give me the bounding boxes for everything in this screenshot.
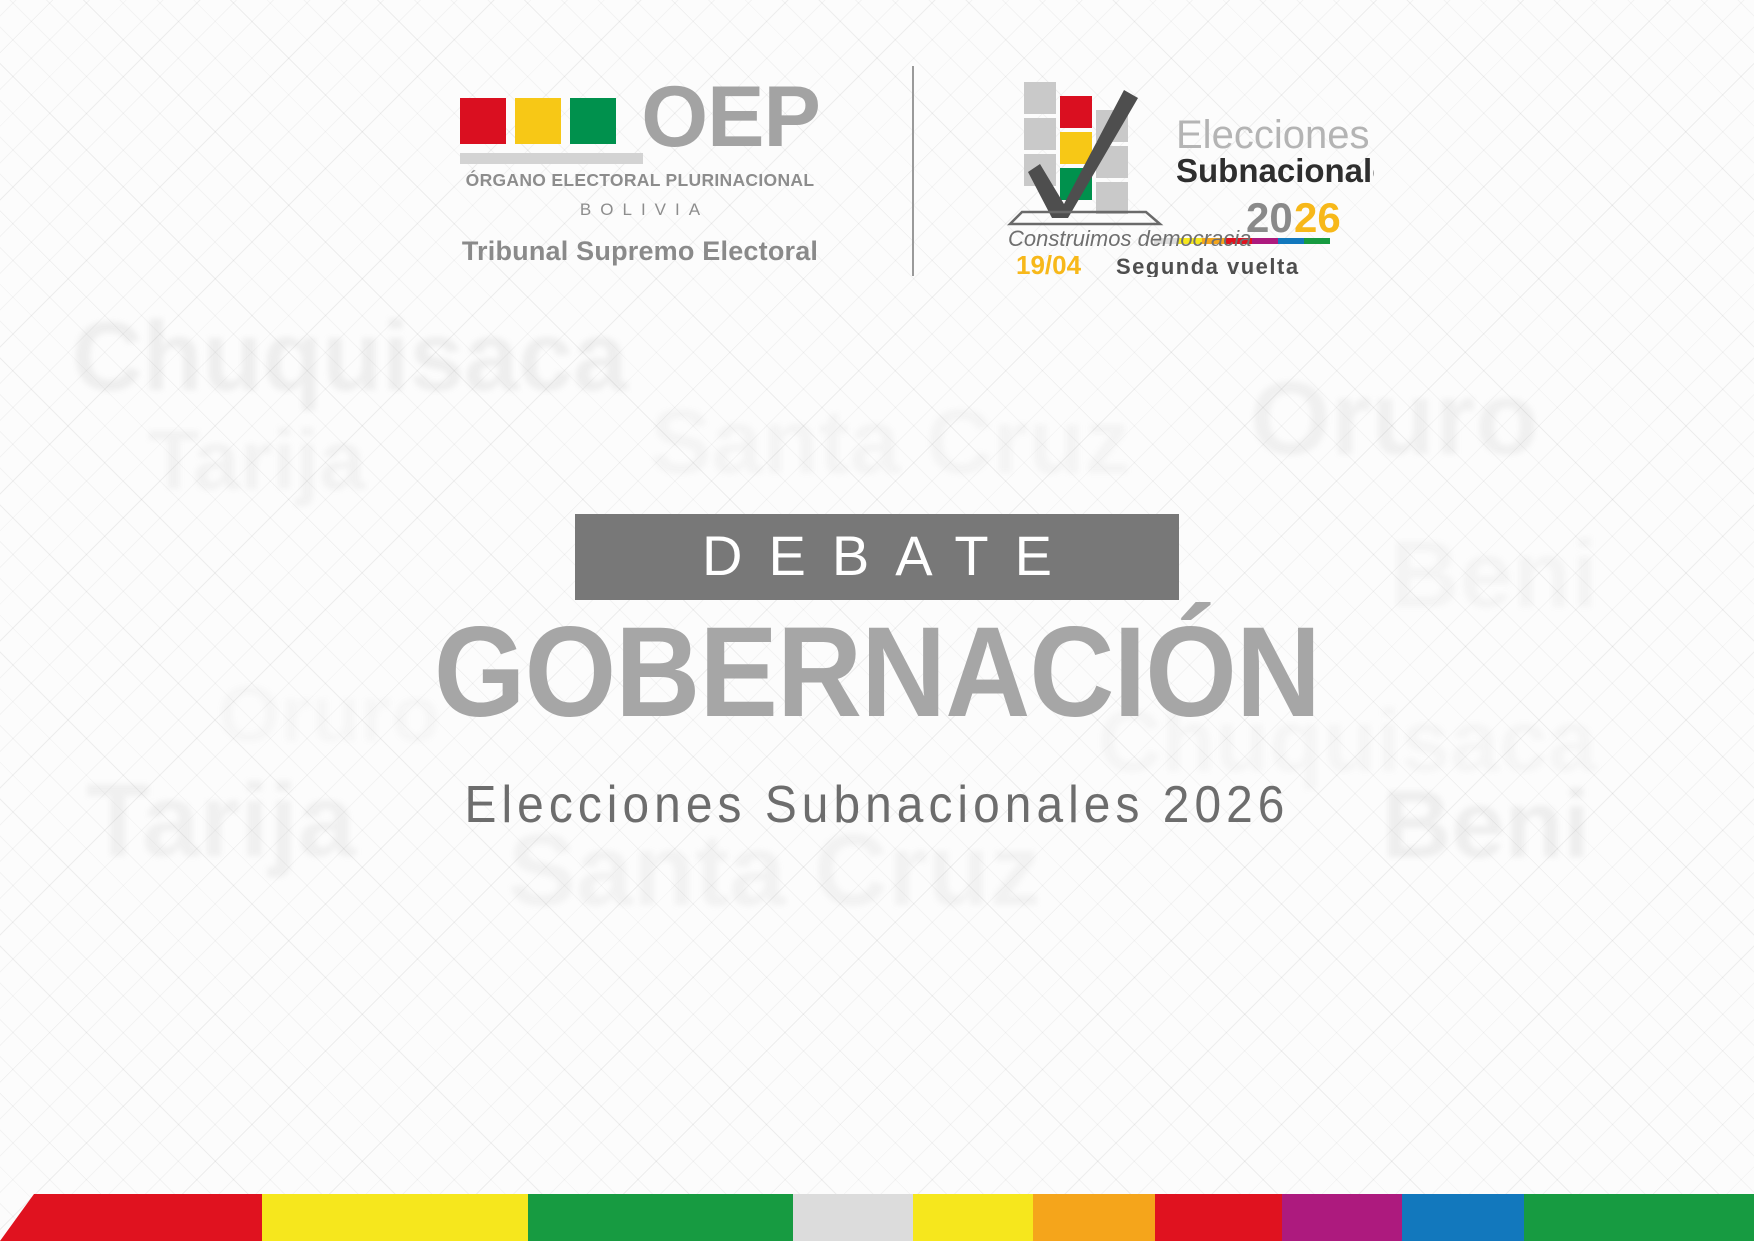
bottom-bar-segment-green2 [1524,1194,1754,1241]
ballot-box-lid-icon [1010,212,1160,224]
election-logo-date-text: 19/04 [1016,250,1082,277]
oep-country-name: BOLIVIA [571,200,709,220]
oep-underline-bar [460,153,643,164]
oep-squares-row [460,98,616,144]
square-yellow-icon [515,98,561,144]
debate-label: DEBATE [617,528,1137,584]
oep-tribunal-name: Tribunal Supremo Electoral [462,236,818,267]
page-subtitle: Elecciones Subnacionales 2026 [465,775,1290,835]
election-logo-graphic: Elecciones Subnacionales 20 26 Constr [994,72,1374,277]
bottom-bar-segment-yellow [262,1194,528,1241]
bottom-bar-segment-red2 [1155,1194,1282,1241]
oep-logo: OEP ÓRGANO ELECTORAL PLURINACIONAL BOLIV… [460,62,912,276]
bottom-bar-segment-orange [1033,1194,1155,1241]
bottom-bar-segment-blue [1402,1194,1524,1241]
election-logo-round-text: Segunda vuelta [1116,254,1300,277]
oep-color-squares [460,84,643,164]
election-logo-year-gray-text: 20 [1246,194,1293,241]
oep-acronym: OEP [641,84,820,151]
debate-banner: DEBATE [575,514,1179,600]
square-red-icon [460,98,506,144]
slide-canvas: ChuquisacaTarijaSanta CruzOruroBeniOruro… [0,0,1754,1241]
header: OEP ÓRGANO ELECTORAL PLURINACIONAL BOLIV… [0,62,1754,276]
bottom-color-bar [0,1194,1754,1241]
election-logo-year-yellow-text: 26 [1294,194,1341,241]
bottom-bar-segment-red [0,1194,262,1241]
oep-organization-name: ÓRGANO ELECTORAL PLURINACIONAL [466,170,815,191]
election-logo: Elecciones Subnacionales 20 26 Constr [914,62,1294,262]
square-green-icon [570,98,616,144]
bottom-bar-segment-magenta [1282,1194,1402,1241]
oep-logo-top: OEP [460,84,820,164]
page-title: GOBERNACIÓN [434,606,1320,740]
election-logo-tagline-text: Construimos democracia [1008,226,1251,251]
election-logo-line2-text: Subnacionales [1176,152,1374,189]
bottom-bar-segment-yellow2 [913,1194,1033,1241]
bottom-bar-segment-lightgray [793,1194,913,1241]
bottom-bar-segment-green [528,1194,793,1241]
election-logo-line1-text: Elecciones [1176,113,1369,157]
